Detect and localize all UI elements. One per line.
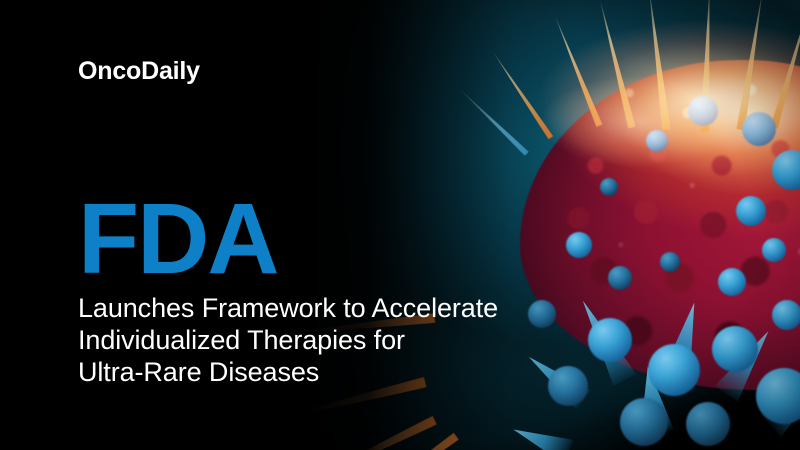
subhead-line-1: Launches Framework to Accelerate <box>78 292 598 324</box>
brand-logo[interactable]: OncoDaily <box>78 57 200 86</box>
cell-spike <box>490 50 553 140</box>
subhead-line-3: Ultra-Rare Diseases <box>78 356 598 388</box>
cell-spike <box>459 88 529 156</box>
headline-subhead: Launches Framework to Accelerate Individ… <box>78 292 598 388</box>
cell-spike <box>275 416 438 450</box>
cell-spike <box>333 432 460 450</box>
social-card: OncoDaily FDA Launches Framework to Acce… <box>0 0 800 450</box>
cell-tentacle <box>508 417 573 450</box>
cell-protrusion <box>686 402 730 446</box>
subhead-line-2: Individualized Therapies for <box>78 324 598 356</box>
headline-block: FDA Launches Framework to Accelerate Ind… <box>78 196 598 388</box>
cell-protrusion <box>620 398 668 446</box>
headline-kicker: FDA <box>78 196 598 282</box>
